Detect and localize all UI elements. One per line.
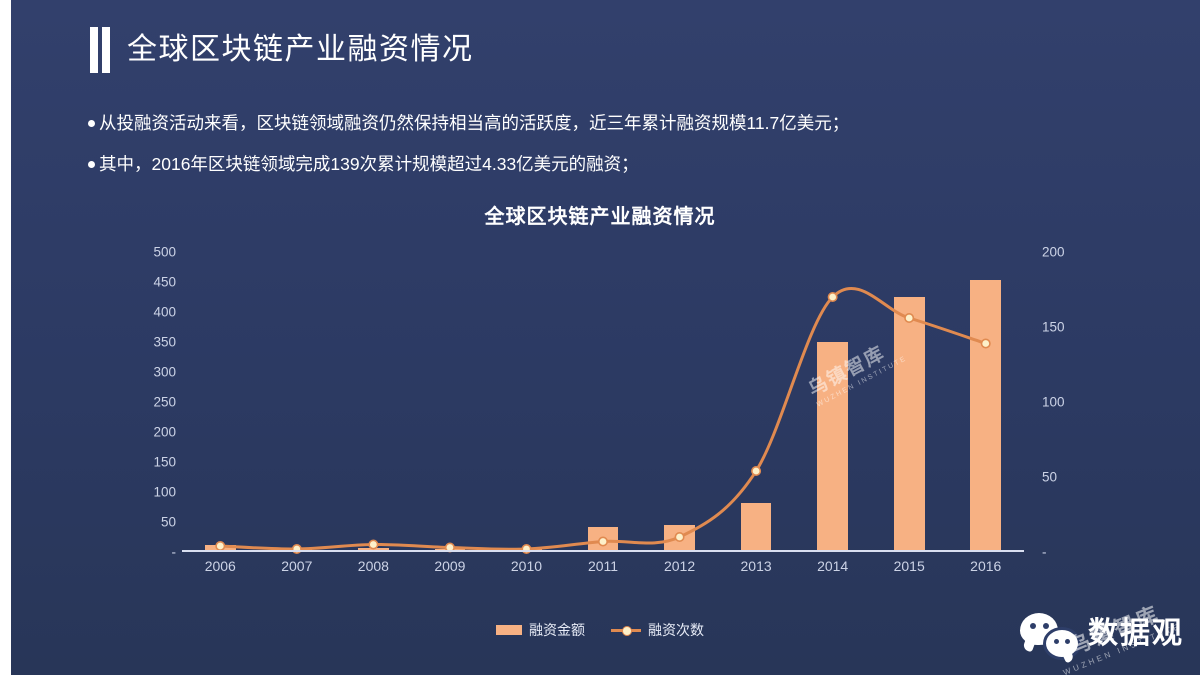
wechat-icon [1020,611,1078,657]
chart-line-marker[interactable] [752,467,760,475]
chart-line-marker[interactable] [369,540,377,548]
axis-tick-label: 2008 [335,558,412,574]
axis-tick-label: 2013 [718,558,795,574]
axis-tick-label: 150 [1042,320,1065,335]
axis-tick-label: 50 [161,515,176,530]
chart: 全球区块链产业融资情况 5004504003503002502001501005… [0,200,1200,660]
axis-tick-label: 100 [1042,395,1065,410]
slide-title-row: 全球区块链产业融资情况 [90,27,474,73]
axis-tick-label: 2007 [259,558,336,574]
axis-tick-label: 2006 [182,558,259,574]
axis-tick-label: 250 [153,395,176,410]
x-axis-line [182,550,1024,552]
axis-tick-label: - [172,545,177,560]
y-axis-left: 50045040035030025020015010050- [130,252,176,552]
list-item: 其中，2016年区块链领域完成139次累计规模超过4.33亿美元的融资； [88,153,1148,177]
list-item: 从投融资活动来看，区块链领域融资仍然保持相当高的活跃度，近三年累计融资规模11.… [88,112,1148,136]
chart-line-marker[interactable] [982,339,990,347]
x-axis-labels: 2006200720082009201020112012201320142015… [182,558,1024,574]
legend-bar-swatch-icon [496,625,522,635]
chart-line-marker[interactable] [675,533,683,541]
axis-tick-label: 2012 [641,558,718,574]
axis-tick-label: 400 [153,305,176,320]
legend-item-amount[interactable]: 融资金额 [496,620,585,640]
chart-line-marker[interactable] [828,293,836,301]
axis-tick-label: 2015 [871,558,948,574]
axis-tick-label: 2016 [947,558,1024,574]
bullet-text: 从投融资活动来看，区块链领域融资仍然保持相当高的活跃度，近三年累计融资规模11.… [99,112,849,136]
chart-line-marker[interactable] [905,314,913,322]
chart-grid-area [182,252,1024,552]
chart-line-marker[interactable] [599,537,607,545]
brand-name: 数据观 [1088,619,1184,649]
axis-tick-label: 200 [153,425,176,440]
axis-tick-label: 2011 [565,558,642,574]
bullet-dot-icon [88,120,95,127]
axis-tick-label: 2010 [488,558,565,574]
legend-line-swatch-icon [611,625,641,635]
page-title: 全球区块链产业融资情况 [127,35,474,65]
chart-title: 全球区块链产业融资情况 [0,200,1200,229]
legend-item-count[interactable]: 融资次数 [611,620,704,640]
y-axis-right: 20015010050- [1034,252,1080,552]
bullet-text: 其中，2016年区块链领域完成139次累计规模超过4.33亿美元的融资； [99,153,639,177]
axis-tick-label: 50 [1042,470,1057,485]
line-series-group [182,252,1024,552]
axis-tick-label: 2009 [412,558,489,574]
chart-line[interactable] [220,288,985,549]
axis-tick-label: 100 [153,485,176,500]
legend-label: 融资金额 [529,620,585,640]
brand-logo: 数据观 [1020,611,1184,657]
chart-plot-area: 50045040035030025020015010050- 200150100… [130,252,1080,577]
slide: 全球区块链产业融资情况 从投融资活动来看，区块链领域融资仍然保持相当高的活跃度，… [0,0,1200,675]
axis-tick-label: 350 [153,335,176,350]
axis-tick-label: 450 [153,275,176,290]
axis-tick-label: 150 [153,455,176,470]
axis-tick-label: 2014 [794,558,871,574]
chart-line-marker[interactable] [216,542,224,550]
axis-tick-label: - [1042,545,1047,560]
legend-label: 融资次数 [648,620,704,640]
title-bar-marker-icon [90,27,110,73]
axis-tick-label: 300 [153,365,176,380]
bullet-list: 从投融资活动来看，区块链领域融资仍然保持相当高的活跃度，近三年累计融资规模11.… [88,112,1148,193]
axis-tick-label: 200 [1042,245,1065,260]
bullet-dot-icon [88,161,95,168]
axis-tick-label: 500 [153,245,176,260]
